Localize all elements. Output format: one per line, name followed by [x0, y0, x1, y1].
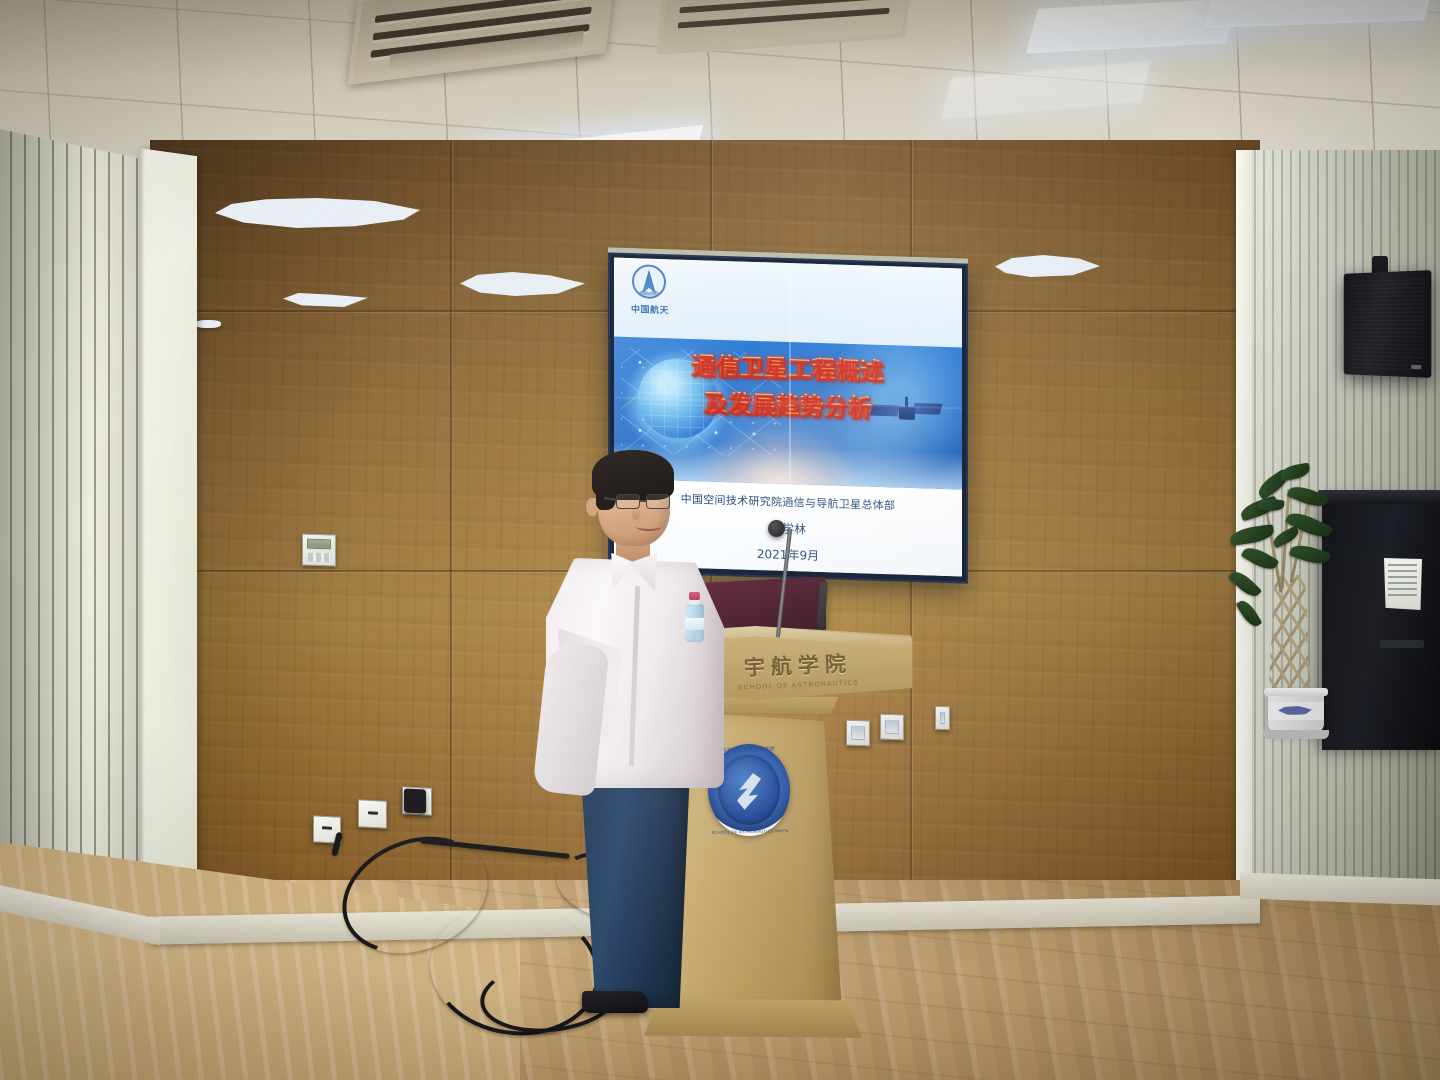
- plant-lattice-trunk: [1268, 575, 1312, 703]
- wall-mounted-speaker: [1344, 270, 1432, 378]
- peeling-veneer-patch-5: [195, 320, 221, 328]
- presenter-shoe: [582, 991, 648, 1013]
- potted-plant: [1228, 455, 1346, 705]
- speaker-logo: [1411, 365, 1421, 369]
- wall-power-outlet-2[interactable]: [358, 799, 387, 829]
- seal-swoosh-emblem: [736, 773, 762, 810]
- wall-pillar: [139, 148, 197, 926]
- presenter: [520, 448, 740, 1008]
- rack-taped-paper: [1384, 558, 1422, 610]
- presenter-hair: [592, 450, 674, 500]
- power-adapter-plug[interactable]: [404, 788, 426, 813]
- rack-vent-slot: [1380, 640, 1424, 648]
- presenter-smile: [636, 522, 662, 531]
- wall-thermostat-panel[interactable]: [302, 534, 336, 567]
- thermostat-buttons[interactable]: [308, 553, 330, 563]
- thermostat-display: [307, 539, 331, 550]
- presenter-trousers: [574, 778, 694, 1008]
- lecture-hall-photo: 中国航天 通信卫星工程概述 及发展趋势分析 中国空间技术研究院通信与导航卫: [0, 0, 1440, 1080]
- presenter-glasses: [616, 494, 674, 510]
- pot-rim: [1264, 688, 1328, 696]
- speaker-grill: [1350, 278, 1424, 371]
- water-bottle: [685, 592, 704, 642]
- wall-light-switch[interactable]: [935, 706, 950, 731]
- gooseneck-microphone-head: [768, 520, 785, 537]
- pot-saucer: [1263, 730, 1329, 739]
- plant-pot: [1268, 688, 1324, 732]
